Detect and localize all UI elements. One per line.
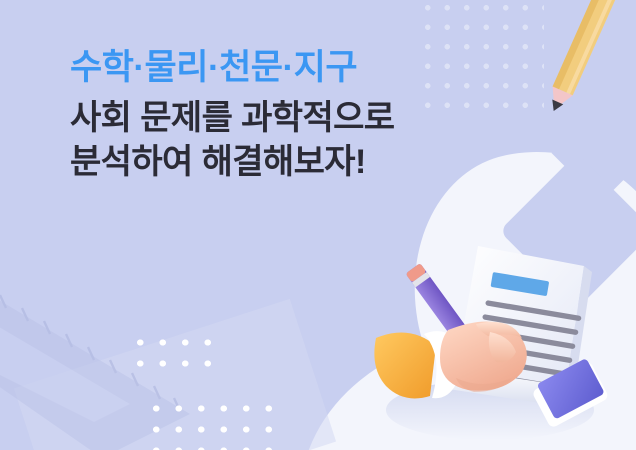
headline-main: 사회 문제를 과학적으로 분석하여 해결해보자! xyxy=(70,97,500,184)
headline-block: 수학·물리·천문·지구 사회 문제를 과학적으로 분석하여 해결해보자! xyxy=(70,48,500,184)
headline-main-line-2: 분석하여 해결해보자! xyxy=(70,141,500,185)
headline-subject-line: 수학·물리·천문·지구 xyxy=(70,48,500,87)
yellow-pencil-icon xyxy=(520,0,636,122)
headline-main-line-1: 사회 문제를 과학적으로 xyxy=(70,97,500,141)
hand-writing-illustration xyxy=(370,228,636,450)
dot-grid-mid-left xyxy=(127,330,215,376)
promo-banner: 수학·물리·천문·지구 사회 문제를 과학적으로 분석하여 해결해보자! xyxy=(0,0,636,450)
dot-grid-bottom xyxy=(143,396,275,450)
